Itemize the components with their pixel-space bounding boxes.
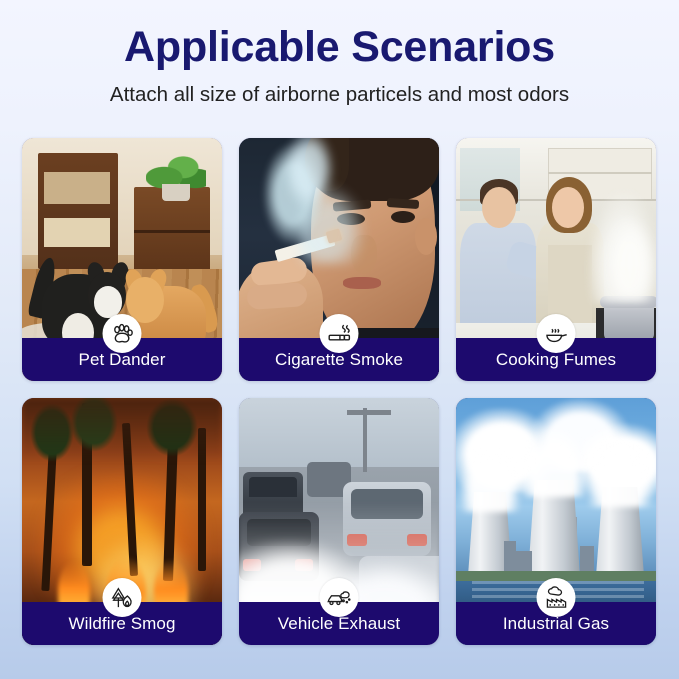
scenario-card-cigarette-smoke[interactable]: Cigarette Smoke (239, 138, 439, 381)
page-title: Applicable Scenarios (0, 22, 679, 72)
scenario-card-vehicle-exhaust[interactable]: Vehicle Exhaust (239, 398, 439, 645)
scenario-card-grid: Pet Dander (22, 138, 657, 645)
page-header: Applicable Scenarios Attach all size of … (0, 0, 679, 109)
applicable-scenarios-page: Applicable Scenarios Attach all size of … (0, 0, 679, 679)
burning-forest-icon (103, 578, 142, 617)
factory-icon (537, 578, 576, 617)
page-subtitle: Attach all size of airborne particels an… (0, 81, 679, 109)
scenario-card-wildfire-smog[interactable]: Wildfire Smog (22, 398, 222, 645)
scenario-card-pet-dander[interactable]: Pet Dander (22, 138, 222, 381)
paw-print-icon (103, 314, 142, 353)
car-exhaust-icon (320, 578, 359, 617)
frying-pan-icon (537, 314, 576, 353)
scenario-card-industrial-gas[interactable]: Industrial Gas (456, 398, 656, 645)
cigarette-icon (320, 314, 359, 353)
scenario-card-cooking-fumes[interactable]: Cooking Fumes (456, 138, 656, 381)
